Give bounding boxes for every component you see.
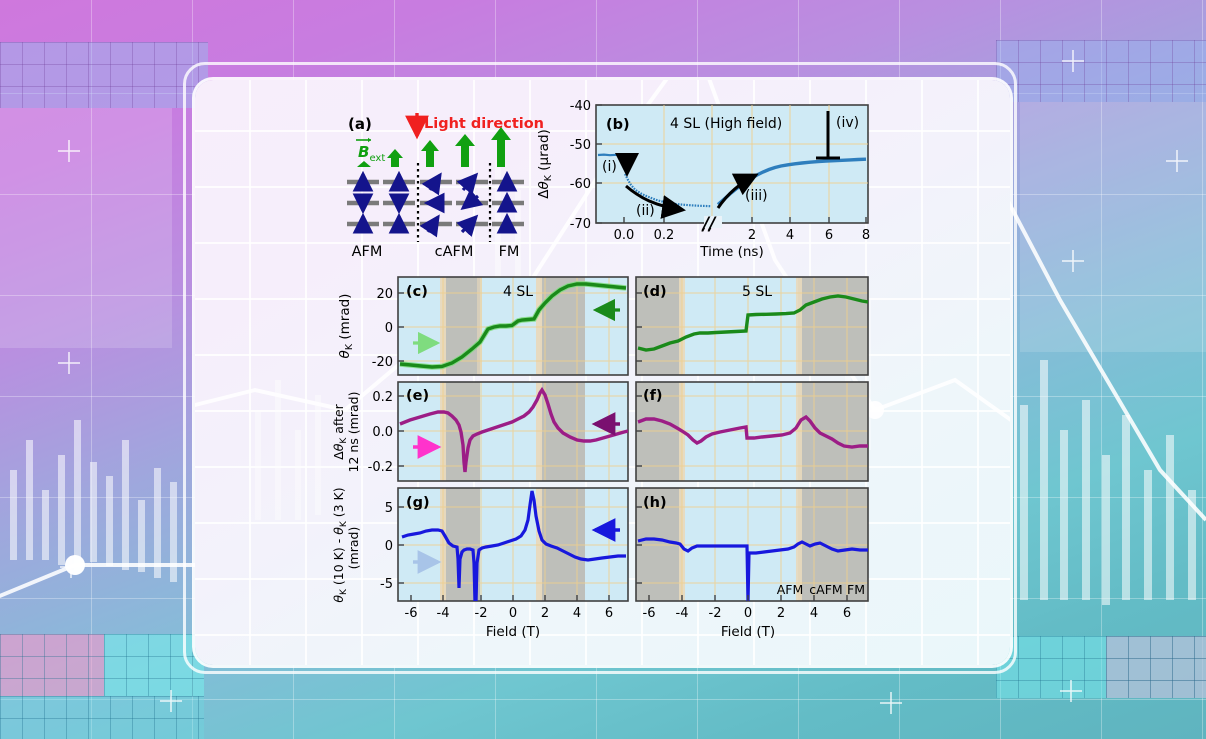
row1-ytick: 0	[385, 321, 393, 336]
panel-b-axis-break-glyph: //	[701, 214, 717, 234]
panel-b-ytick: -70	[570, 217, 591, 232]
panel-b-xlabel: Time (ns)	[699, 244, 763, 260]
xlabel-right: Field (T)	[721, 624, 775, 640]
panel-b-ytick: -50	[570, 138, 591, 153]
phase-label-fm: FM	[499, 244, 520, 260]
panel-c-tag: (c)	[406, 284, 428, 300]
panel-g-tag: (g)	[406, 495, 430, 511]
row3-ytick: 0	[385, 539, 393, 554]
panel-a: (a) Light direction Bext	[347, 113, 544, 260]
panel-d-tag: (d)	[643, 284, 667, 300]
panel-b-xtick: 8	[862, 228, 870, 243]
phase-label-afm: AFM	[352, 244, 383, 260]
panel-b-ylabel: ΔθK (μrad)	[536, 129, 554, 199]
scientific-figure: (a) Light direction Bext	[0, 0, 1206, 739]
xtick: 2	[777, 606, 785, 621]
panel-b-xtick: 4	[786, 228, 794, 243]
row3-ylabel-line2: (mrad)	[346, 527, 361, 570]
panel-h: (h) AFM cAFM FM	[636, 488, 868, 602]
panel-c: (c) 4 SL 20 0 -20	[372, 277, 628, 375]
row2-ytick: 0.2	[372, 390, 393, 405]
row1-ylabel: θK (mrad)	[337, 294, 355, 359]
xtick: -6	[643, 606, 656, 621]
panel-e-tag: (e)	[406, 388, 429, 404]
field-arrow-4	[455, 134, 475, 167]
panel-b-xtick: 0.2	[654, 228, 675, 243]
row2-ylabel-line2: 12 ns (mrad)	[346, 392, 361, 473]
xtick: 6	[843, 606, 851, 621]
panel-a-tag: (a)	[348, 115, 372, 133]
panel-d: (d) 5 SL	[636, 277, 868, 375]
panel-b-trace-pre	[598, 155, 623, 156]
screenshot-root: (a) Light direction Bext	[0, 0, 1206, 739]
panel-g: (g) 5 0 -5	[380, 488, 628, 603]
panel-b-tag: (b)	[606, 117, 630, 133]
xtick: -2	[475, 606, 488, 621]
panel-b-label-ii: (ii)	[636, 203, 655, 219]
panel-b: (b) 4 SL (High field) -40 -50 -60 -70 Δθ…	[536, 99, 870, 260]
xlabel-left: Field (T)	[486, 624, 540, 640]
panel-c-title: 4 SL	[503, 284, 533, 300]
panel-b-title: 4 SL (High field)	[670, 116, 782, 132]
xtick: -4	[676, 606, 689, 621]
xtick: -6	[405, 606, 418, 621]
light-direction-label: Light direction	[424, 116, 544, 132]
panel-f: (f)	[636, 382, 868, 481]
band-gray	[798, 277, 868, 375]
xtick: 6	[605, 606, 613, 621]
panel-b-label-i: (i)	[602, 159, 617, 175]
xtick: 0	[744, 606, 752, 621]
panel-b-ytick: -60	[570, 177, 591, 192]
bext-label: Bext	[358, 143, 385, 164]
panel-h-tag: (h)	[643, 495, 667, 511]
field-arrow-5	[491, 127, 511, 167]
panel-d-title: 5 SL	[742, 284, 772, 300]
band-tan	[796, 277, 802, 375]
panel-b-xtick: 6	[825, 228, 833, 243]
field-arrow-2	[387, 149, 403, 167]
row1-ytick: -20	[372, 355, 393, 370]
bext-vector-arrowhead	[368, 138, 371, 142]
xtick: 4	[810, 606, 818, 621]
xtick: -2	[709, 606, 722, 621]
spin-lattice	[347, 174, 524, 232]
phase-annotation-afm: AFM	[777, 582, 804, 597]
row3-ytick: 5	[385, 501, 393, 516]
row2-ytick: 0.0	[372, 425, 393, 440]
xtick: -4	[437, 606, 450, 621]
panel-e: (e) 0.2 0.0 -0.2	[368, 382, 628, 481]
xtick: 4	[573, 606, 581, 621]
phase-annotation-fm: FM	[847, 582, 865, 597]
field-arrow-3	[421, 140, 439, 167]
panel-b-label-iv: (iv)	[836, 115, 859, 131]
panel-b-yaxis: -40 -50 -60 -70 ΔθK (μrad)	[536, 99, 602, 232]
row2-ytick: -0.2	[368, 460, 393, 475]
phase-annotation-cafm: cAFM	[809, 582, 842, 597]
panel-b-label-iii: (iii)	[745, 188, 768, 204]
panel-b-xtick: 0.0	[614, 228, 635, 243]
xtick: 2	[541, 606, 549, 621]
panel-b-xtick: 2	[748, 228, 756, 243]
band-tan	[536, 277, 542, 375]
phase-label-cafm: cAFM	[435, 244, 474, 260]
panel-b-ytick: -40	[570, 99, 591, 114]
row3-ytick: -5	[380, 577, 393, 592]
panel-f-tag: (f)	[643, 388, 663, 404]
row1-ytick: 20	[376, 287, 393, 302]
xtick: 0	[509, 606, 517, 621]
row-ylabels: θK (mrad) ΔθK after 12 ns (mrad) θK (10 …	[331, 294, 361, 603]
